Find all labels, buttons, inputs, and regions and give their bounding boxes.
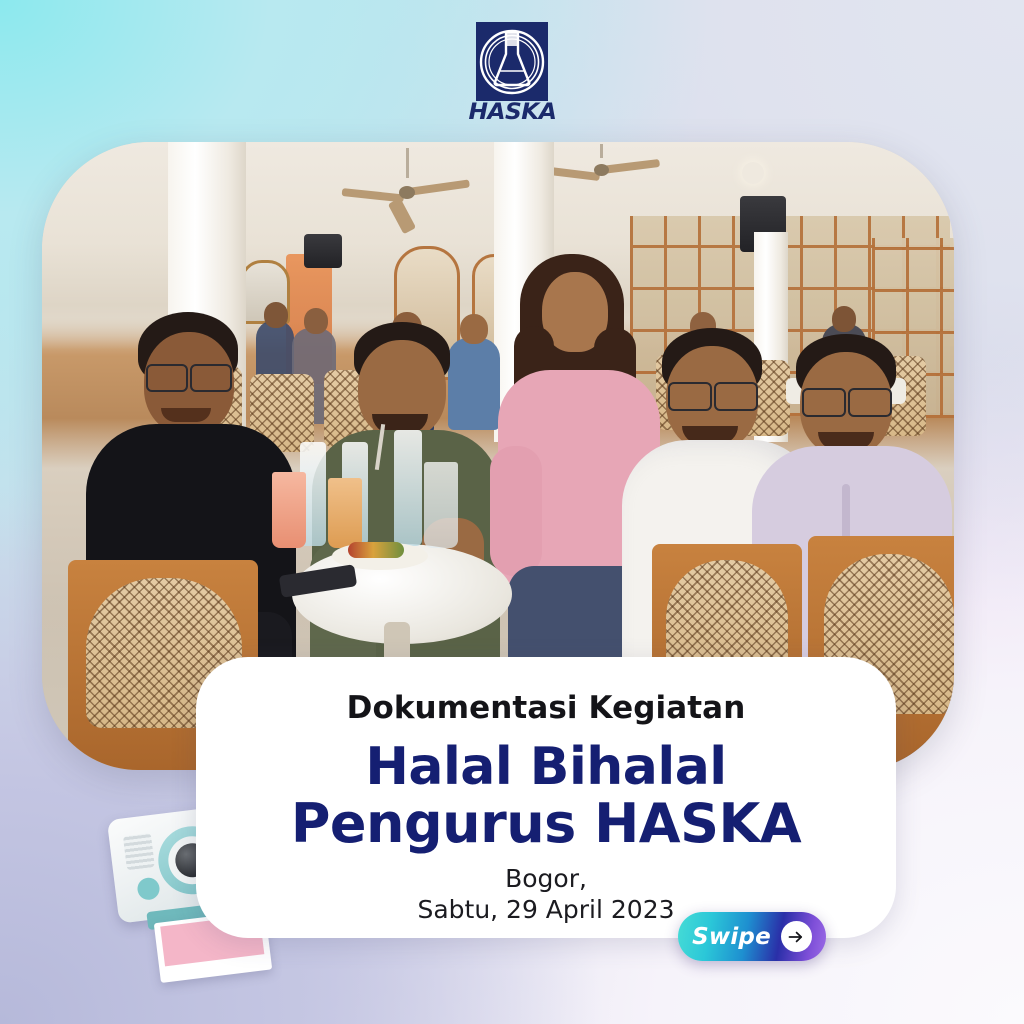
food-items [348,542,404,558]
ceiling-fan-right [542,156,662,188]
headline-line-2: Pengurus HASKA [291,796,801,851]
wall-speaker-left [304,234,342,268]
swipe-label: Swipe [692,924,771,950]
event-city: Bogor, [505,863,587,894]
ceiling-fan-left [342,176,472,210]
brand-logo: HASKA [0,22,1024,140]
drinking-glass-2 [328,478,362,548]
page-title: Halal Bihalal Pengurus HASKA [291,741,801,851]
arrow-right-icon [781,921,812,952]
camera-flash [123,833,155,870]
poster-canvas: HASKA [0,0,1024,1024]
event-date: Sabtu, 29 April 2023 [417,894,674,925]
haska-flask-logo-icon [476,22,548,101]
ceiling-light [742,162,764,184]
water-bottle-3 [394,430,422,546]
background-person-f-head [832,306,856,332]
drinking-glass-3 [424,462,458,548]
swipe-button[interactable]: Swipe [678,912,826,961]
card-kicker: Dokumentasi Kegiatan [347,691,746,725]
brand-wordmark: HASKA [468,102,556,124]
drinking-glass-1 [272,472,306,548]
headline-line-1: Halal Bihalal [291,741,801,794]
info-card: Dokumentasi Kegiatan Halal Bihalal Pengu… [196,657,896,938]
